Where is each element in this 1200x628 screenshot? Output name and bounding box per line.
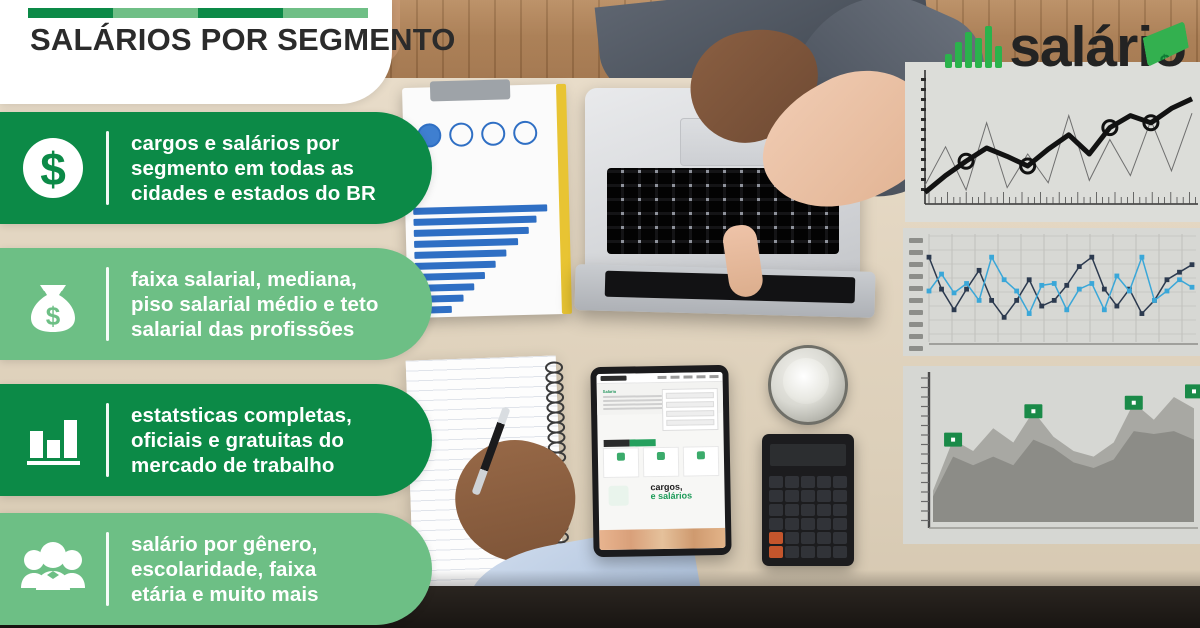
svg-text:$: $: [46, 301, 61, 331]
tablet-headline: cargos, e salários: [650, 482, 720, 501]
title-card: SALÁRIOS POR SEGMENTO: [0, 0, 392, 104]
pill-divider: [106, 403, 109, 477]
page-title: SALÁRIOS POR SEGMENTO: [30, 22, 456, 58]
dual-series-line-chart-svg: [903, 228, 1200, 356]
feature-item-estatisticas[interactable]: estatsticas completas,oficiais e gratuit…: [0, 384, 432, 496]
calculator: [762, 434, 854, 566]
dual-series-line-chart: [903, 228, 1200, 356]
clipboard-blue-bar-chart: [413, 204, 566, 316]
feature-item-salario-genero[interactable]: salário por gênero,escolaridade, faixaet…: [0, 513, 432, 625]
feature-item-cargos[interactable]: $ cargos e salários porsegmento em todas…: [0, 112, 432, 224]
promo-banner: Salario cargos, e salários: [0, 0, 1200, 628]
feature-text: faixa salarial, mediana,piso salarial mé…: [109, 267, 405, 342]
bar-chart-icon: [0, 409, 106, 471]
chart-panels: [895, 0, 1200, 628]
tablet-search-form: [662, 388, 719, 431]
clipboard-clip: [430, 79, 510, 101]
pill-divider: [106, 267, 109, 341]
tablet-buttons: [604, 433, 660, 441]
feature-text: cargos e salários porsegmento em todas a…: [109, 131, 402, 206]
people-group-icon: [0, 538, 106, 600]
clipboard-icons: [413, 120, 554, 146]
tablet-device: Salario cargos, e salários: [590, 365, 731, 557]
svg-text:$: $: [40, 143, 66, 195]
money-bag-icon: $: [0, 273, 106, 335]
tablet-feature-cards: [603, 446, 720, 478]
bar-equalizer-icon: [945, 26, 1002, 68]
feature-text: estatsticas completas,oficiais e gratuit…: [109, 403, 378, 478]
calculator-display: [770, 444, 846, 466]
feature-text: salário por gênero,escolaridade, faixaet…: [109, 532, 345, 607]
title-accent-bar: [28, 8, 368, 18]
logo-wordmark: salário $: [1009, 19, 1186, 76]
tablet-badge-icon: [608, 486, 628, 506]
pill-divider: [106, 131, 109, 205]
area-mountain-chart: [903, 366, 1200, 544]
calculator-keypad: [769, 476, 847, 558]
water-glass: [768, 345, 848, 425]
tablet-photo-strip: [599, 528, 725, 550]
dollar-circle-icon: $: [0, 137, 106, 199]
tablet-headline-line2: e salários: [651, 491, 721, 501]
tablet-screen: Salario cargos, e salários: [596, 372, 725, 550]
pill-divider: [106, 532, 109, 606]
salario-logo[interactable]: salário $: [945, 12, 1186, 82]
area-mountain-chart-svg: [903, 366, 1200, 544]
trend-line-chart: [905, 62, 1200, 222]
trend-line-chart-svg: [905, 62, 1200, 222]
feature-item-faixa-salarial[interactable]: $ faixa salarial, mediana,piso salarial …: [0, 248, 432, 360]
